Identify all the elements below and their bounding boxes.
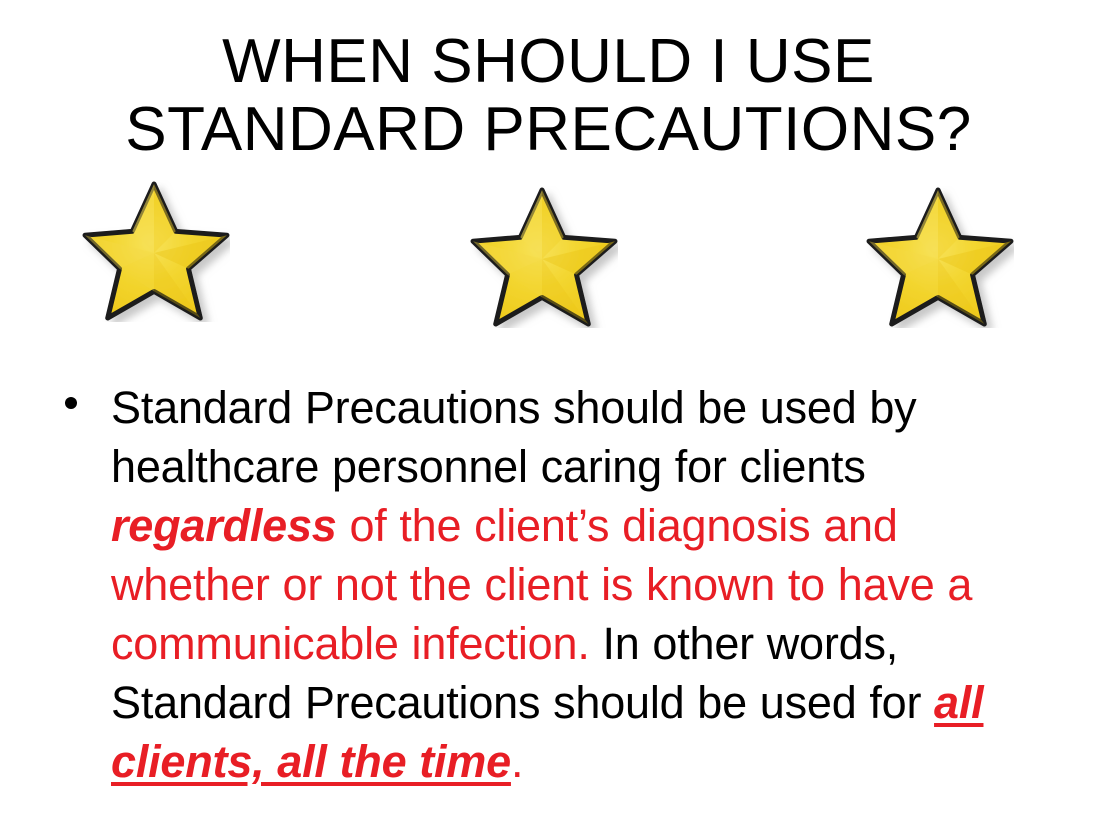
- title-line-2: STANDARD PRECAUTIONS?: [0, 96, 1097, 164]
- bullet-point-icon: [65, 397, 77, 409]
- star-decoration-row: [0, 180, 1097, 330]
- bullet-paragraph: Standard Precautions should be used by h…: [111, 378, 1045, 791]
- star-icon: [866, 186, 1014, 328]
- star-icon: [82, 180, 230, 322]
- page-title: WHEN SHOULD I USE STANDARD PRECAUTIONS?: [0, 28, 1097, 164]
- body-segment-1: Standard Precautions should be used by h…: [111, 382, 916, 492]
- body-segment-regardless: regardless: [111, 500, 337, 551]
- title-line-1: WHEN SHOULD I USE: [0, 28, 1097, 96]
- star-icon: [470, 186, 618, 328]
- body-segment-final-period: .: [511, 736, 523, 787]
- list-item: Standard Precautions should be used by h…: [55, 378, 1045, 791]
- body-content: Standard Precautions should be used by h…: [55, 333, 1045, 821]
- slide-canvas: WHEN SHOULD I USE STANDARD PRECAUTIONS?: [0, 0, 1097, 821]
